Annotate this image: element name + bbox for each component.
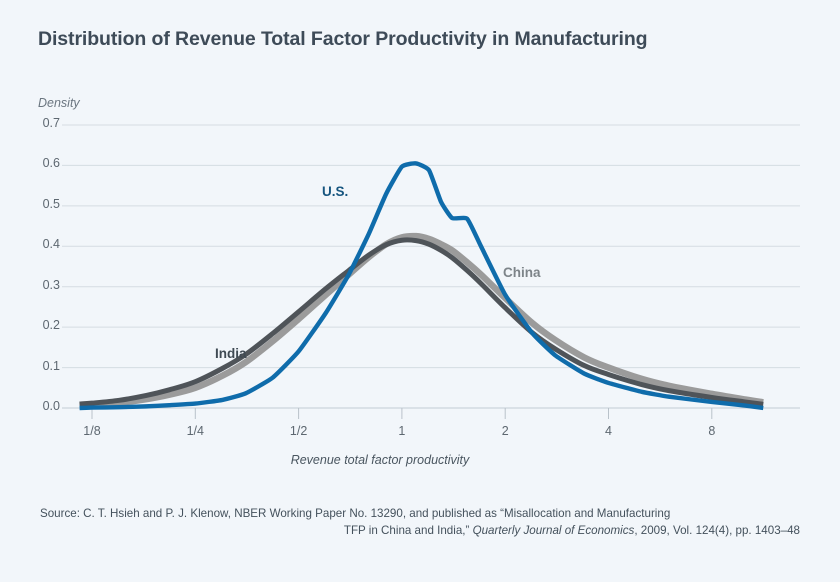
series-line-india xyxy=(80,240,764,404)
series-label-us: U.S. xyxy=(322,184,348,199)
plot-area xyxy=(0,0,840,470)
source-note: Source: C. T. Hsieh and P. J. Klenow, NB… xyxy=(0,505,840,539)
source-line-2-post: , 2009, Vol. 124(4), pp. 1403–48 xyxy=(634,524,800,537)
x-axis-title: Revenue total factor productivity xyxy=(0,453,840,467)
source-line-1: Source: C. T. Hsieh and P. J. Klenow, NB… xyxy=(0,505,840,522)
x-axis-tick-label: 1/4 xyxy=(170,424,220,438)
source-line-2-pre: TFP in China and India,” xyxy=(344,524,473,537)
source-journal: Quarterly Journal of Economics xyxy=(473,524,635,537)
y-axis-tick-label: 0.0 xyxy=(24,399,60,413)
y-axis-tick-label: 0.1 xyxy=(24,359,60,373)
x-axis-tick-label: 8 xyxy=(687,424,737,438)
y-axis-tick-label: 0.5 xyxy=(24,197,60,211)
x-axis-tick-label: 4 xyxy=(584,424,634,438)
chart-figure: Distribution of Revenue Total Factor Pro… xyxy=(0,0,840,582)
y-axis-tick-label: 0.4 xyxy=(24,237,60,251)
x-axis-tick-label: 1 xyxy=(377,424,427,438)
x-axis-tick-label: 1/2 xyxy=(274,424,324,438)
y-axis-tick-label: 0.2 xyxy=(24,318,60,332)
series-line-china xyxy=(80,236,764,406)
x-axis-tick-label: 1/8 xyxy=(67,424,117,438)
chart-svg xyxy=(0,0,840,470)
y-axis-tick-label: 0.3 xyxy=(24,278,60,292)
y-axis-tick-label: 0.7 xyxy=(24,116,60,130)
series-label-india: India xyxy=(215,346,247,361)
source-line-2: TFP in China and India,” Quarterly Journ… xyxy=(0,522,840,539)
x-axis-tick-label: 2 xyxy=(480,424,530,438)
x-axis-title-text: Revenue total factor productivity xyxy=(291,453,470,467)
y-axis-tick-label: 0.6 xyxy=(24,156,60,170)
series-line-us xyxy=(80,163,764,408)
series-label-china: China xyxy=(503,265,541,280)
